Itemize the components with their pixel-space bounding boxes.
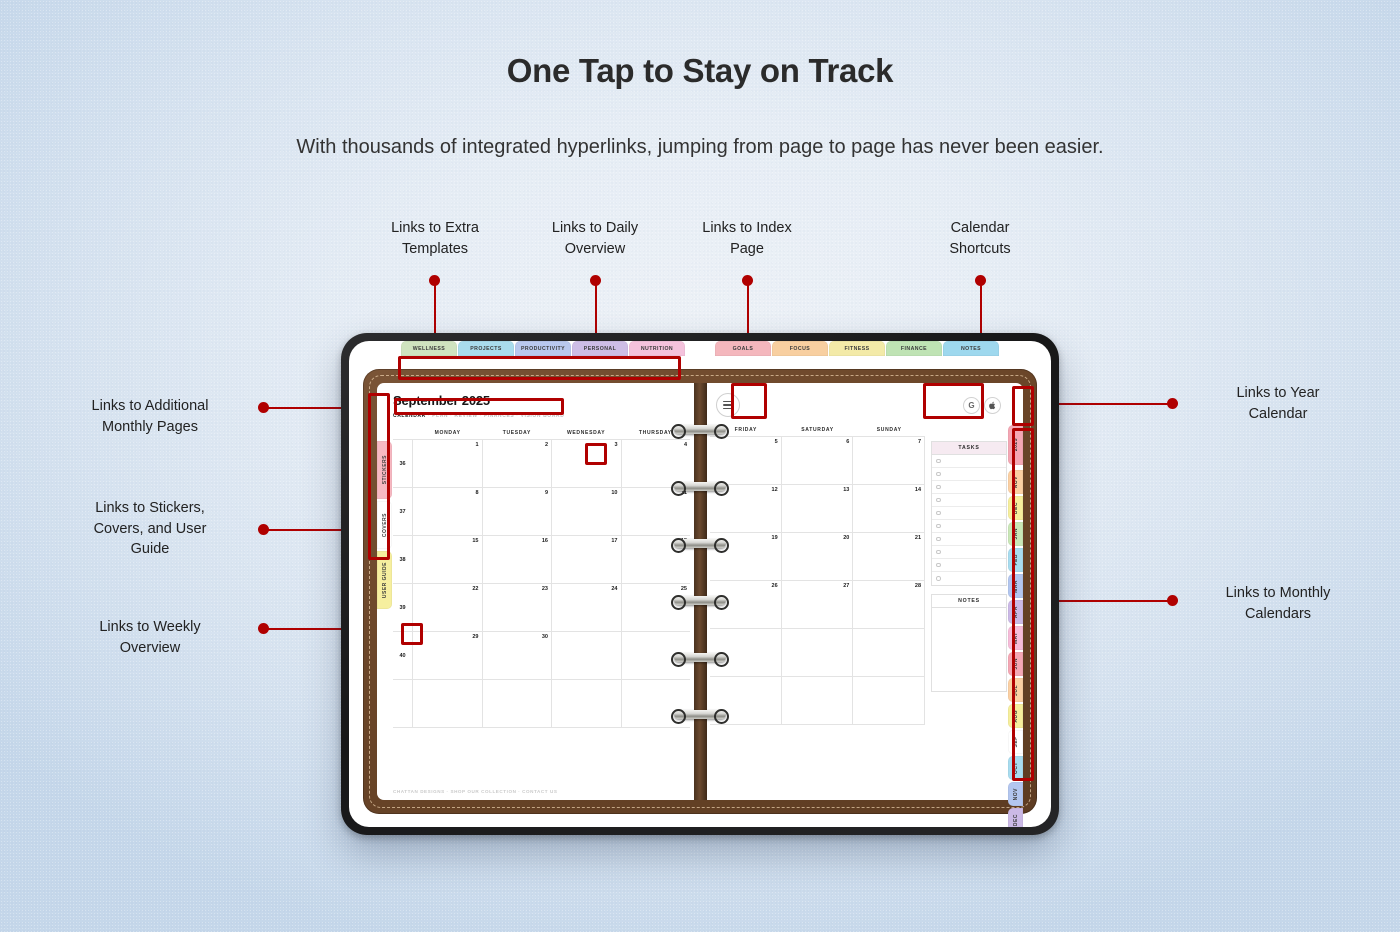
day-number: 23 <box>542 586 548 592</box>
calendar-week-row: 262728 <box>710 581 925 629</box>
side-tab-label: NOV <box>1013 788 1019 800</box>
breadcrumb-active[interactable]: CALENDAR <box>393 413 426 419</box>
side-panels: TASKS NOTES <box>931 441 1007 725</box>
day-cell[interactable]: 20 <box>782 533 854 581</box>
day-number: 22 <box>472 586 478 592</box>
day-number: 9 <box>545 490 548 496</box>
side-tab-label: COVERS <box>382 513 388 537</box>
day-number: 26 <box>772 583 778 589</box>
task-row[interactable] <box>932 507 1006 520</box>
annotation-index-page: Links to Index Page <box>667 218 827 259</box>
day-cell[interactable] <box>782 629 854 677</box>
day-cells-left: 123489101115161718222324252930 <box>413 440 690 728</box>
side-tab-month-nov-0[interactable]: NOV <box>1008 470 1023 494</box>
binder-ring <box>674 596 726 605</box>
day-cell[interactable]: 15 <box>413 536 483 584</box>
day-number: 28 <box>915 583 921 589</box>
week-number-cell[interactable]: 40 <box>393 632 412 680</box>
day-number: 30 <box>542 634 548 640</box>
top-tab-projects[interactable]: PROJECTS <box>458 341 514 356</box>
top-tab-focus[interactable]: FOCUS <box>772 341 828 356</box>
task-checkbox-icon[interactable] <box>936 537 941 542</box>
page-subtitle: With thousands of integrated hyperlinks,… <box>0 136 1400 159</box>
side-tab-month-may-6[interactable]: MAY <box>1008 626 1023 650</box>
task-row[interactable] <box>932 572 1006 585</box>
day-cell[interactable]: 7 <box>853 437 925 485</box>
day-cell[interactable]: 27 <box>782 581 854 629</box>
day-number: 12 <box>772 487 778 493</box>
weekday-header-left: MONDAY TUESDAY WEDNESDAY THURSDAY <box>393 430 690 436</box>
annotation-monthly-pages: Links to Additional Monthly Pages <box>60 396 240 437</box>
binder-ring <box>674 482 726 491</box>
day-cell[interactable]: 13 <box>782 485 854 533</box>
side-tab-month-mar-4[interactable]: MAR <box>1008 574 1023 598</box>
annotation-stickers-covers: Links to Stickers, Covers, and User Guid… <box>60 498 240 560</box>
task-checkbox-icon[interactable] <box>936 511 941 516</box>
binder-ring <box>674 425 726 434</box>
task-row[interactable] <box>932 494 1006 507</box>
side-tab-month-jun-7[interactable]: JUN <box>1008 652 1023 676</box>
side-tab-label: SEP <box>1013 736 1019 748</box>
task-checkbox-icon[interactable] <box>936 472 941 477</box>
day-number: 14 <box>915 487 921 493</box>
side-tab-label: 2025 <box>1013 438 1019 451</box>
apple-calendar-icon[interactable] <box>984 397 1001 414</box>
day-cell[interactable]: 10 <box>552 488 622 536</box>
weekday-wednesday: WEDNESDAY <box>552 430 621 436</box>
annotation-daily-overview: Links to Daily Overview <box>515 218 675 259</box>
day-number: 20 <box>843 535 849 541</box>
binder-ring <box>674 539 726 548</box>
day-cell[interactable] <box>853 629 925 677</box>
calendar-week-row: 2930 <box>413 632 690 680</box>
day-cell[interactable]: 3 <box>552 440 622 488</box>
calendar-week-row: 15161718 <box>413 536 690 584</box>
day-cell[interactable]: 21 <box>853 533 925 581</box>
day-cell[interactable]: 5 <box>710 437 782 485</box>
calendar-week-row: 192021 <box>710 533 925 581</box>
binder-ring <box>674 653 726 662</box>
day-cell[interactable]: 9 <box>483 488 553 536</box>
calendar-week-row: 891011 <box>413 488 690 536</box>
breadcrumb-item[interactable]: FINANCES <box>484 413 514 419</box>
calendar-week-row <box>710 677 925 725</box>
day-cell[interactable]: 29 <box>413 632 483 680</box>
day-number: 2 <box>545 442 548 448</box>
day-cell[interactable] <box>853 677 925 725</box>
day-number: 29 <box>472 634 478 640</box>
day-number: 19 <box>772 535 778 541</box>
annotation-weekly-overview: Links to Weekly Overview <box>60 617 240 658</box>
day-cell[interactable] <box>552 680 622 728</box>
task-row[interactable] <box>932 546 1006 559</box>
calendar-shortcut-buttons: G <box>963 397 1001 414</box>
task-checkbox-icon[interactable] <box>936 550 941 555</box>
calendar-week-row: 1234 <box>413 440 690 488</box>
day-cell[interactable]: 1 <box>413 440 483 488</box>
weekday-tuesday: TUESDAY <box>482 430 551 436</box>
side-tab-label: NOV <box>1013 476 1019 488</box>
side-tab-label: JUL <box>1013 685 1019 696</box>
top-tab-wellness[interactable]: WELLNESS <box>401 341 457 356</box>
task-checkbox-icon[interactable] <box>936 563 941 568</box>
tablet-device: WELLNESSPROJECTSPRODUCTIVITYPERSONALNUTR… <box>341 333 1059 835</box>
side-tab-month-sep-10[interactable]: SEP <box>1008 730 1023 754</box>
side-tabs-left: STICKERSCOVERSUSER GUIDE <box>377 441 392 609</box>
side-tab-month-dec-1[interactable]: DEC <box>1008 496 1023 520</box>
day-cell[interactable]: 30 <box>483 632 553 680</box>
side-tab-label: DEC <box>1013 502 1019 514</box>
day-number: 15 <box>472 538 478 544</box>
task-checkbox-icon[interactable] <box>936 576 941 581</box>
index-menu-button[interactable] <box>716 393 740 417</box>
day-cell[interactable]: 16 <box>483 536 553 584</box>
top-tab-finance[interactable]: FINANCE <box>886 341 942 356</box>
google-calendar-icon[interactable]: G <box>963 397 980 414</box>
week-number-column: 3637383940 <box>393 440 413 728</box>
side-tab-label: APR <box>1013 606 1019 618</box>
day-cell[interactable]: 22 <box>413 584 483 632</box>
calendar-week-row <box>413 680 690 728</box>
task-row[interactable] <box>932 533 1006 546</box>
week-number-cell[interactable]: 36 <box>393 440 412 488</box>
task-checkbox-icon[interactable] <box>936 524 941 529</box>
breadcrumb-item[interactable]: PLAN <box>432 413 448 419</box>
day-number: 6 <box>846 439 849 445</box>
side-tab-month-jan-2[interactable]: JAN <box>1008 522 1023 546</box>
day-number: 7 <box>918 439 921 445</box>
day-number: 24 <box>611 586 617 592</box>
side-tab-year-2025[interactable]: 2025 <box>1008 425 1023 465</box>
day-cell[interactable]: 17 <box>552 536 622 584</box>
task-row[interactable] <box>932 481 1006 494</box>
day-number: 4 <box>684 442 687 448</box>
side-tab-stickers[interactable]: STICKERS <box>377 441 392 499</box>
day-number: 13 <box>843 487 849 493</box>
side-tab-month-nov-12[interactable]: NOV <box>1008 782 1023 806</box>
annotation-extra-templates: Links to Extra Templates <box>355 218 515 259</box>
side-tabs-right: 2025NOVDECJANFEBMARAPRMAYJUNJULAUGSEPOCT… <box>1008 425 1023 827</box>
planner-footer[interactable]: CHATTAN DESIGNS · SHOP OUR COLLECTION · … <box>393 789 557 794</box>
day-cell[interactable] <box>782 677 854 725</box>
side-tab-label: JUN <box>1013 658 1019 670</box>
task-checkbox-icon[interactable] <box>936 459 941 464</box>
day-number: 27 <box>843 583 849 589</box>
task-row[interactable] <box>932 520 1006 533</box>
top-tab-nutrition[interactable]: NUTRITION <box>629 341 685 356</box>
top-tab-personal[interactable]: PERSONAL <box>572 341 628 356</box>
tasks-panel-title: TASKS <box>932 442 1006 455</box>
day-cell[interactable] <box>552 632 622 680</box>
side-tab-label: AUG <box>1013 710 1019 723</box>
page-title: One Tap to Stay on Track <box>0 52 1400 90</box>
task-checkbox-icon[interactable] <box>936 498 941 503</box>
side-tab-month-aug-9[interactable]: AUG <box>1008 704 1023 728</box>
top-tab-notes[interactable]: NOTES <box>943 341 999 356</box>
task-row[interactable] <box>932 455 1006 468</box>
breadcrumb[interactable]: CALENDAR · PLAN · REVIEW · FINANCES · VI… <box>393 413 690 419</box>
top-tabs-right: GOALSFOCUSFITNESSFINANCENOTES <box>715 341 999 356</box>
day-cell[interactable]: 28 <box>853 581 925 629</box>
day-number: 1 <box>475 442 478 448</box>
side-tab-month-jul-8[interactable]: JUL <box>1008 678 1023 702</box>
top-tabs-left: WELLNESSPROJECTSPRODUCTIVITYPERSONALNUTR… <box>401 341 685 356</box>
side-tab-label: USER GUIDE <box>382 562 388 598</box>
calendar-grid-right: 567121314192021262728 <box>710 436 925 725</box>
planner-paper: STICKERSCOVERSUSER GUIDE 2025NOVDECJANFE… <box>377 383 1023 800</box>
calendar-grid-left: 3637383940 12348910111516171822232425293… <box>393 439 690 728</box>
annotation-calendar-shortcuts: Calendar Shortcuts <box>900 218 1060 259</box>
day-number: 5 <box>775 439 778 445</box>
week-number-cell[interactable]: 39 <box>393 584 412 632</box>
calendar-week-row: 121314 <box>710 485 925 533</box>
tasks-rows <box>932 455 1006 585</box>
day-number: 25 <box>681 586 687 592</box>
planner-binder: STICKERSCOVERSUSER GUIDE 2025NOVDECJANFE… <box>363 369 1037 814</box>
side-tab-label: MAY <box>1013 632 1019 644</box>
side-tab-label: DEC <box>1013 814 1019 826</box>
day-cell[interactable] <box>483 680 553 728</box>
day-cells-right: 567121314192021262728 <box>710 437 925 725</box>
side-tab-label: OCT <box>1013 762 1019 774</box>
tasks-panel: TASKS <box>931 441 1007 586</box>
day-cell[interactable]: 23 <box>483 584 553 632</box>
planner-page-left: September 2025 CALENDAR · PLAN · REVIEW … <box>377 383 700 800</box>
calendar-right-wrap: FRIDAY SATURDAY SUNDAY 56712131419202126… <box>710 427 925 725</box>
annotation-year-calendar: Links to Year Calendar <box>1188 383 1368 424</box>
task-row[interactable] <box>932 559 1006 572</box>
side-tab-label: JAN <box>1013 528 1019 540</box>
tablet-screen: WELLNESSPROJECTSPRODUCTIVITYPERSONALNUTR… <box>349 341 1051 827</box>
weekday-header-right: FRIDAY SATURDAY SUNDAY <box>710 427 925 433</box>
day-cell[interactable]: 24 <box>552 584 622 632</box>
binder-ring <box>674 710 726 719</box>
side-tab-user-guide[interactable]: USER GUIDE <box>377 551 392 609</box>
weekday-sunday: SUNDAY <box>853 427 925 433</box>
binder-spine <box>694 383 707 800</box>
notes-panel[interactable]: NOTES <box>931 594 1007 692</box>
day-number: 17 <box>611 538 617 544</box>
breadcrumb-item[interactable]: VISION BOARD <box>521 413 565 419</box>
side-tab-month-feb-3[interactable]: FEB <box>1008 548 1023 572</box>
apple-logo-glyph <box>988 401 997 410</box>
side-tab-label: FEB <box>1013 554 1019 566</box>
annotation-monthly-calendars: Links to Monthly Calendars <box>1188 583 1368 624</box>
day-number: 21 <box>915 535 921 541</box>
top-tab-productivity[interactable]: PRODUCTIVITY <box>515 341 571 356</box>
day-cell[interactable] <box>413 680 483 728</box>
side-tab-covers[interactable]: COVERS <box>377 501 392 549</box>
hamburger-icon[interactable] <box>716 393 740 417</box>
week-number-cell[interactable]: 38 <box>393 536 412 584</box>
calendar-week-row: 22232425 <box>413 584 690 632</box>
side-tab-month-oct-11[interactable]: OCT <box>1008 756 1023 780</box>
week-number-cell[interactable] <box>393 680 412 728</box>
side-tab-month-dec-13[interactable]: DEC <box>1008 808 1023 827</box>
task-checkbox-icon[interactable] <box>936 485 941 490</box>
day-number: 10 <box>611 490 617 496</box>
calendar-week-row <box>710 629 925 677</box>
planner-page-right: G FRIDAY SATURDAY SUNDAY <box>700 383 1023 800</box>
breadcrumb-item[interactable]: REVIEW <box>454 413 477 419</box>
calendar-week-row: 567 <box>710 437 925 485</box>
right-page-body: FRIDAY SATURDAY SUNDAY 56712131419202126… <box>710 427 1007 725</box>
day-cell[interactable]: 14 <box>853 485 925 533</box>
day-cell[interactable]: 8 <box>413 488 483 536</box>
day-cell[interactable]: 2 <box>483 440 553 488</box>
week-col-spacer <box>393 430 413 436</box>
notes-panel-title: NOTES <box>932 595 1006 608</box>
day-number: 8 <box>475 490 478 496</box>
day-number: 16 <box>542 538 548 544</box>
top-tab-fitness[interactable]: FITNESS <box>829 341 885 356</box>
side-tab-label: STICKERS <box>382 455 388 484</box>
weekday-monday: MONDAY <box>413 430 482 436</box>
day-number: 3 <box>614 442 617 448</box>
task-row[interactable] <box>932 468 1006 481</box>
side-tab-month-apr-5[interactable]: APR <box>1008 600 1023 624</box>
month-title: September 2025 <box>393 393 690 408</box>
weekday-saturday: SATURDAY <box>782 427 854 433</box>
side-tab-label: MAR <box>1013 580 1019 593</box>
day-cell[interactable]: 6 <box>782 437 854 485</box>
top-tab-goals[interactable]: GOALS <box>715 341 771 356</box>
week-number-cell[interactable]: 37 <box>393 488 412 536</box>
